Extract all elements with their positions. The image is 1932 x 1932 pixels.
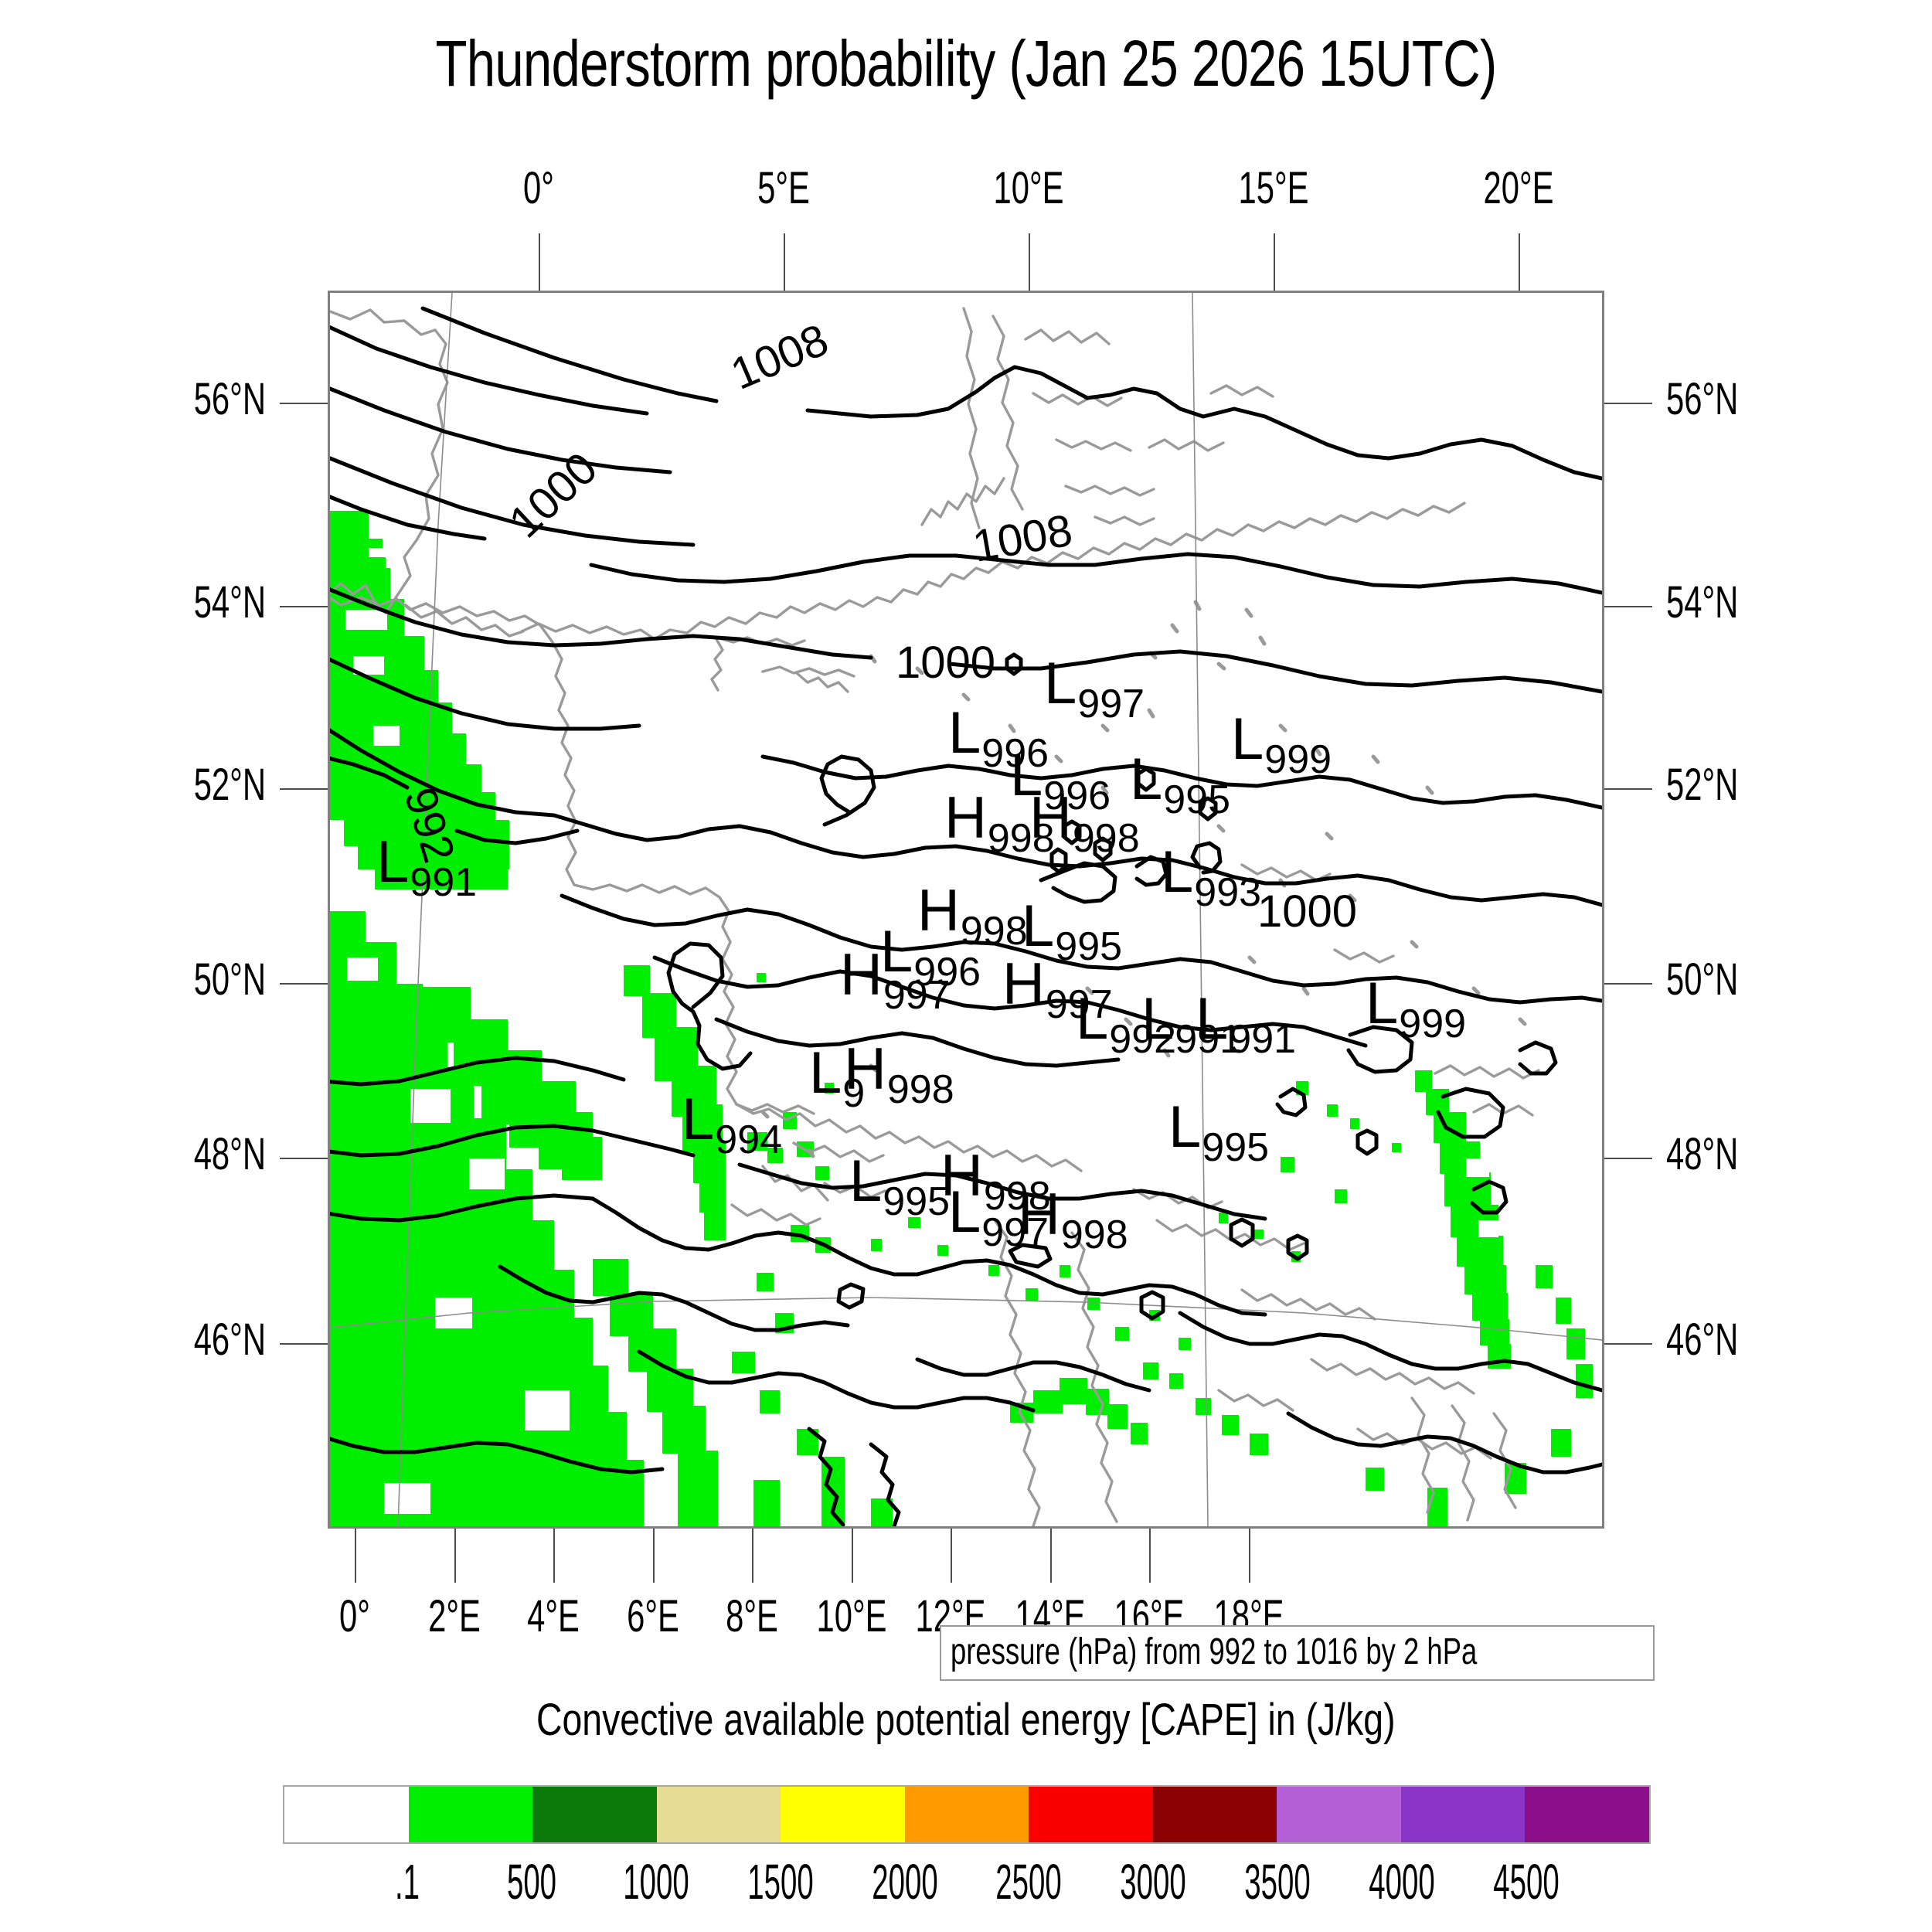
tick-right-lat-3 [1604, 983, 1652, 985]
cape-caption-text: Convective available potential energy [C… [536, 1694, 1396, 1746]
axis-label-left-lat-2: 52°N [43, 759, 266, 811]
tick-right-lat-1 [1604, 606, 1652, 607]
tick-bottom-lon-5 [852, 1529, 853, 1583]
axis-label-left-lat-0: 56°N [43, 373, 266, 425]
pressure-extremum-label: L995 [1168, 1094, 1269, 1170]
axis-label-right-lat-3: 50°N [1666, 954, 1889, 1005]
pressure-interval-note: pressure (hPa) from 992 to 1016 by 2 hPa [940, 1625, 1655, 1681]
axis-label-right-lat-0: 56°N [1666, 373, 1889, 425]
axis-label-right-lat-2: 52°N [1666, 759, 1889, 811]
axis-label-right-lat-4: 48°N [1666, 1128, 1889, 1180]
pressure-extremum-label: L995 [1130, 747, 1230, 822]
colorbar-swatch-0[interactable] [284, 1787, 409, 1842]
tick-top-lon-3 [1274, 233, 1275, 291]
colorbar-swatch-1[interactable] [409, 1787, 533, 1842]
tick-bottom-lon-2 [553, 1529, 555, 1583]
tick-right-lat-2 [1604, 788, 1652, 790]
tick-top-lon-4 [1519, 233, 1520, 291]
tick-bottom-lon-9 [1249, 1529, 1250, 1583]
contour-label: 1000 [896, 638, 995, 688]
pressure-extremum-label: H998 [917, 878, 1028, 954]
axis-label-left-lat-3: 50°N [43, 954, 266, 1005]
cape-colorbar[interactable] [283, 1785, 1651, 1844]
pressure-extremum-label: L999 [1231, 706, 1332, 782]
tick-left-lat-4 [280, 1158, 328, 1159]
contour-label: 1008 [724, 315, 835, 400]
page-title: Thunderstorm probability (Jan 25 2026 15… [193, 26, 1739, 101]
tick-right-lat-0 [1604, 403, 1652, 404]
tick-top-lon-0 [539, 233, 540, 291]
tick-right-lat-5 [1604, 1343, 1652, 1345]
tick-left-lat-1 [280, 606, 328, 607]
pressure-extremum-label: L991 [1196, 986, 1296, 1062]
colorbar-swatch-8[interactable] [1277, 1787, 1401, 1842]
pressure-interval-text: pressure (hPa) from 992 to 1016 by 2 hPa [951, 1631, 1477, 1673]
tick-left-lat-5 [280, 1343, 328, 1345]
pressure-extremum-label: H998 [844, 1036, 954, 1112]
axis-label-right-lat-5: 46°N [1666, 1314, 1889, 1366]
tick-bottom-lon-0 [355, 1529, 356, 1583]
pressure-extremum-label: L995 [849, 1148, 950, 1224]
cape-colorbar-labels: .150010001500200025003000350040004500 [283, 1853, 1651, 1907]
colorbar-swatch-4[interactable] [781, 1787, 905, 1842]
tick-bottom-lon-1 [454, 1529, 456, 1583]
axis-label-top-lon-1: 5°E [711, 162, 855, 214]
tick-left-lat-0 [280, 403, 328, 404]
contour-label: 1000 [1257, 886, 1357, 937]
colorbar-swatch-9[interactable] [1401, 1787, 1526, 1842]
map-plot-area[interactable]: 1008 1000 1000 992 1008 1000 L997L996L99… [328, 291, 1604, 1529]
tick-right-lat-4 [1604, 1158, 1652, 1159]
colorbar-swatch-10[interactable] [1525, 1787, 1649, 1842]
tick-left-lat-3 [280, 983, 328, 985]
pressure-extremum-label: L993 [1161, 839, 1261, 915]
axis-label-right-lat-1: 54°N [1666, 577, 1889, 628]
tick-left-lat-2 [280, 788, 328, 790]
colorbar-swatch-2[interactable] [532, 1787, 657, 1842]
tick-top-lon-1 [784, 233, 785, 291]
colorbar-swatch-3[interactable] [657, 1787, 781, 1842]
axis-label-left-lat-4: 48°N [43, 1128, 266, 1180]
map-canvas: 1008 1000 1000 992 1008 1000 L997L996L99… [330, 293, 1602, 1526]
axis-label-left-lat-1: 54°N [43, 577, 266, 628]
contour-label: 1008 [969, 505, 1076, 571]
axis-label-left-lat-5: 46°N [43, 1314, 266, 1366]
colorbar-swatch-6[interactable] [1029, 1787, 1153, 1842]
colorbar-swatch-5[interactable] [905, 1787, 1029, 1842]
axis-label-top-lon-2: 10°E [956, 162, 1100, 214]
tick-bottom-lon-6 [951, 1529, 952, 1583]
weather-map-page: Thunderstorm probability (Jan 25 2026 15… [0, 0, 1932, 1932]
axis-label-top-lon-4: 20°E [1446, 162, 1590, 214]
axis-label-top-lon-3: 15°E [1201, 162, 1345, 214]
tick-bottom-lon-7 [1050, 1529, 1052, 1583]
tick-top-lon-2 [1029, 233, 1030, 291]
tick-bottom-lon-4 [752, 1529, 753, 1583]
tick-bottom-lon-8 [1149, 1529, 1151, 1583]
colorbar-label-9: 4500 [1452, 1853, 1600, 1910]
cape-caption: Convective available potential energy [C… [0, 1694, 1932, 1746]
axis-label-top-lon-0: 0° [466, 162, 611, 214]
colorbar-swatch-7[interactable] [1153, 1787, 1277, 1842]
tick-bottom-lon-3 [653, 1529, 655, 1583]
